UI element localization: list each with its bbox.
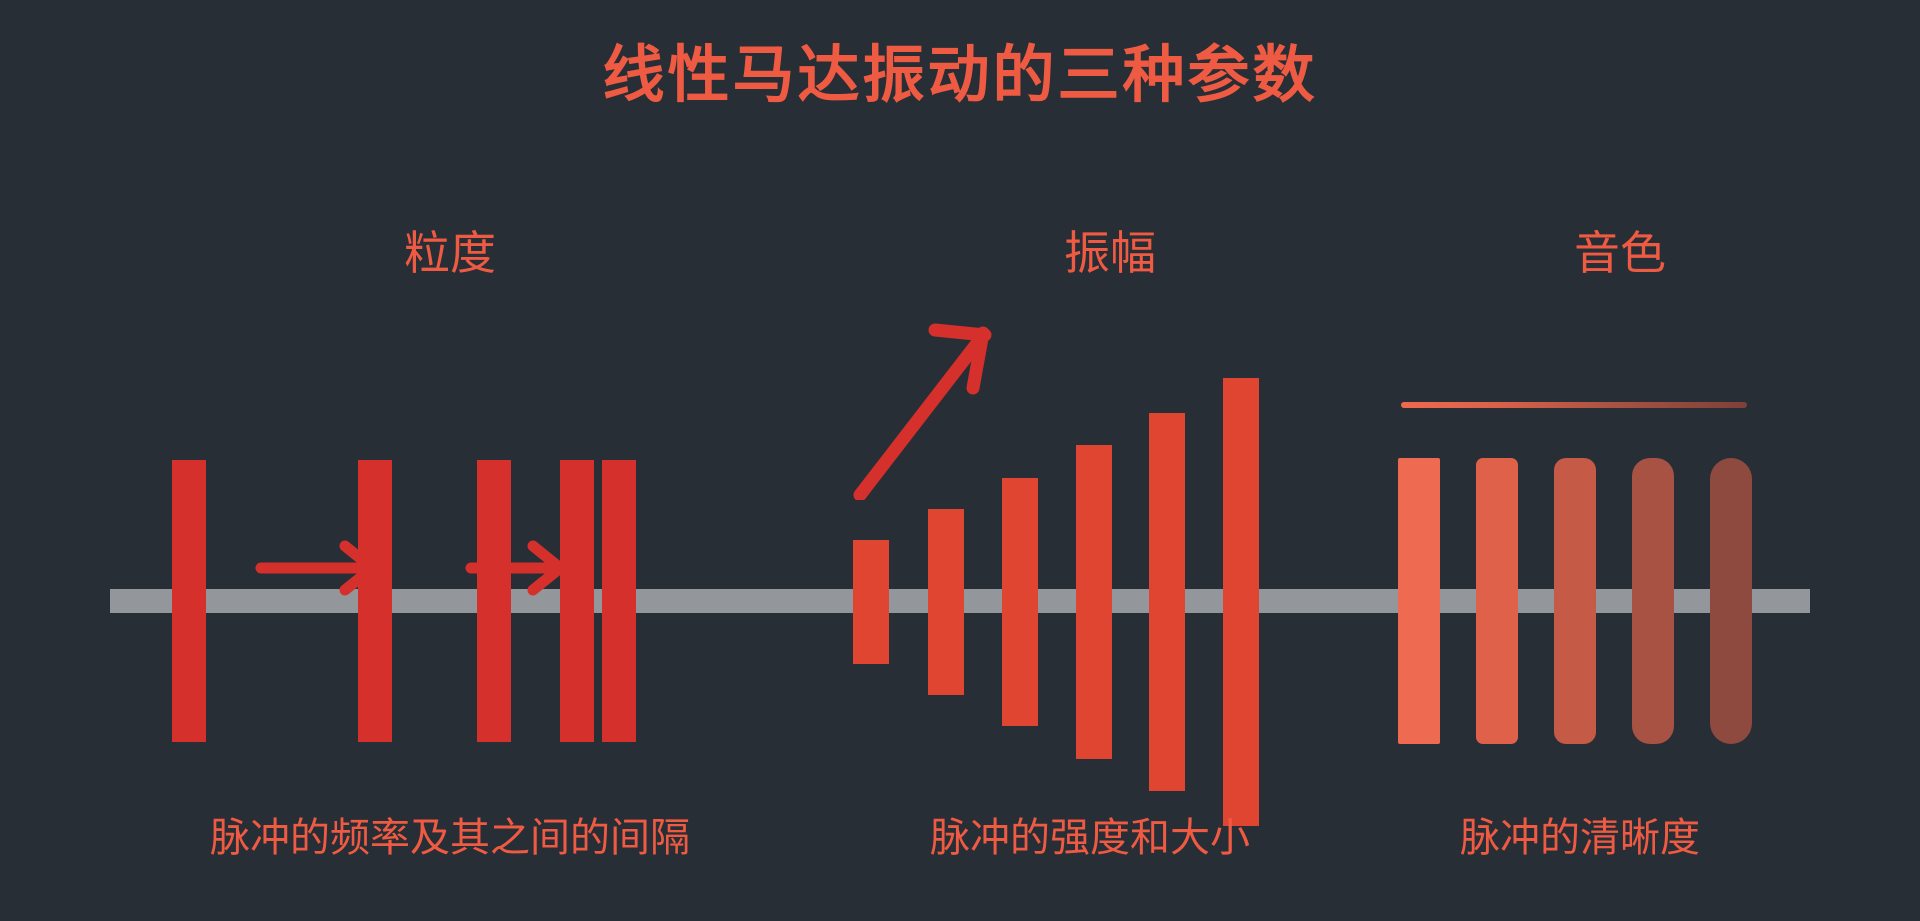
arrow-right-icon xyxy=(255,540,379,596)
pulse-bar xyxy=(1476,458,1518,744)
pulse-bar xyxy=(1632,458,1674,744)
arrow-right-icon xyxy=(465,540,567,596)
pulse-bar xyxy=(1223,378,1259,826)
pulse-bar xyxy=(1554,458,1596,744)
fade-line-icon xyxy=(1401,402,1747,408)
pulse-bar xyxy=(560,460,594,742)
pulse-bar xyxy=(602,460,636,742)
pulse-bar xyxy=(172,460,206,742)
caption-timbre: 脉冲的清晰度 xyxy=(1410,818,1750,858)
section-heading-timbre: 音色 xyxy=(1470,230,1770,276)
pulse-bar xyxy=(1076,445,1112,759)
caption-amplitude: 脉冲的强度和大小 xyxy=(820,818,1360,858)
section-heading-amplitude: 振幅 xyxy=(960,230,1260,276)
pulse-bar xyxy=(1710,458,1752,744)
section-heading-granularity: 粒度 xyxy=(300,230,600,276)
pulse-bar xyxy=(358,460,392,742)
arrow-up-right-icon xyxy=(840,300,1000,500)
pulse-bar xyxy=(1149,413,1185,791)
pulse-bar xyxy=(477,460,511,742)
pulse-bar xyxy=(853,540,889,664)
pulse-bar xyxy=(1398,458,1440,744)
pulse-bar xyxy=(928,509,964,695)
pulse-bar xyxy=(1002,478,1038,726)
infographic-canvas: 线性马达振动的三种参数 粒度 振幅 音色 脉冲的频率及其之间的间隔 脉冲的强度和… xyxy=(0,0,1920,921)
page-title: 线性马达振动的三种参数 xyxy=(0,42,1920,110)
caption-granularity: 脉冲的频率及其之间的间隔 xyxy=(60,818,840,858)
